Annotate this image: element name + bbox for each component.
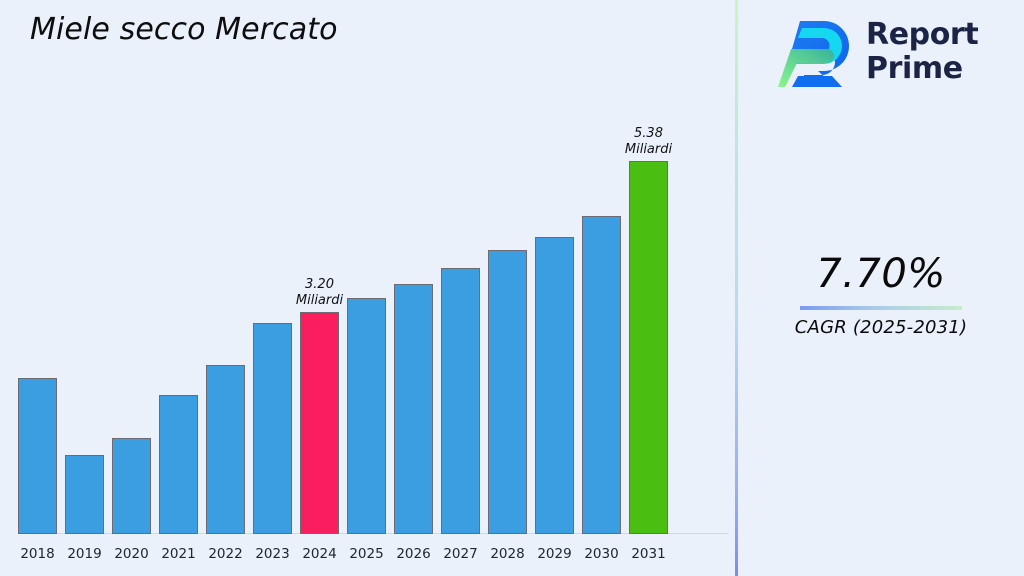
x-axis-tick-2026: 2026: [396, 546, 430, 562]
bar-value-unit-2024: Miliardi: [296, 293, 343, 309]
x-axis-tick-2019: 2019: [67, 546, 101, 562]
x-axis-tick-2025: 2025: [349, 546, 383, 562]
bar-group-2031: 5.38Miliardi2031: [625, 0, 672, 576]
bar-group-2019: 2019: [61, 0, 108, 576]
bar-2021[interactable]: [159, 395, 198, 534]
x-axis-tick-2023: 2023: [255, 546, 289, 562]
bar-2030[interactable]: [582, 216, 621, 534]
bar-group-2020: 2020: [108, 0, 155, 576]
bar-chart-plot: 2018201920202021202220233.20Miliardi2024…: [0, 0, 735, 576]
x-axis-tick-2030: 2030: [584, 546, 618, 562]
brand-name-line1: Report: [866, 18, 978, 52]
slide-root: Miele secco Mercato 20182019202020212022…: [0, 0, 1024, 576]
brand-wordmark: Report Prime: [866, 18, 978, 86]
bar-value-amount-2031: 5.38: [625, 126, 672, 142]
bar-2028[interactable]: [488, 250, 527, 534]
brand-name-line2: Prime: [866, 52, 978, 86]
bar-group-2027: 2027: [437, 0, 484, 576]
bar-value-label-2031: 5.38Miliardi: [625, 126, 672, 158]
bar-2023[interactable]: [253, 323, 292, 534]
x-axis-tick-2028: 2028: [490, 546, 524, 562]
cagr-value: 7.70%: [738, 248, 1024, 300]
x-axis-tick-2027: 2027: [443, 546, 477, 562]
report-prime-r-monogram-icon: [778, 16, 858, 92]
bar-group-2030: 2030: [578, 0, 625, 576]
bar-group-2028: 2028: [484, 0, 531, 576]
bar-group-2026: 2026: [390, 0, 437, 576]
bar-group-2025: 2025: [343, 0, 390, 576]
bar-group-2018: 2018: [14, 0, 61, 576]
bar-2025[interactable]: [347, 298, 386, 534]
cagr-divider-rule: [800, 306, 962, 310]
bar-value-amount-2024: 3.20: [296, 277, 343, 293]
bar-2027[interactable]: [441, 268, 480, 534]
x-axis-tick-2029: 2029: [537, 546, 571, 562]
bar-group-2023: 2023: [249, 0, 296, 576]
brand-logo: Report Prime: [778, 14, 1008, 94]
x-axis-tick-2022: 2022: [208, 546, 242, 562]
x-axis-tick-2031: 2031: [631, 546, 665, 562]
bar-value-label-2024: 3.20Miliardi: [296, 277, 343, 309]
chart-panel: Miele secco Mercato 20182019202020212022…: [0, 0, 735, 576]
x-axis-tick-2020: 2020: [114, 546, 148, 562]
bar-2022[interactable]: [206, 365, 245, 534]
bar-2029[interactable]: [535, 237, 574, 534]
side-panel: Report Prime 7.70% CAGR (2025-2031): [738, 0, 1024, 576]
cagr-label: CAGR (2025-2031): [738, 316, 1024, 340]
bar-group-2024: 3.20Miliardi2024: [296, 0, 343, 576]
bar-2026[interactable]: [394, 284, 433, 534]
bar-2031[interactable]: [629, 161, 668, 534]
bar-2024[interactable]: [300, 312, 339, 534]
x-axis-tick-2021: 2021: [161, 546, 195, 562]
bar-group-2029: 2029: [531, 0, 578, 576]
bar-2019[interactable]: [65, 455, 104, 534]
bar-2020[interactable]: [112, 438, 151, 534]
x-axis-tick-2024: 2024: [302, 546, 336, 562]
bar-group-2022: 2022: [202, 0, 249, 576]
bar-2018[interactable]: [18, 378, 57, 534]
cagr-block: 7.70% CAGR (2025-2031): [738, 248, 1024, 340]
x-axis-tick-2018: 2018: [20, 546, 54, 562]
bar-group-2021: 2021: [155, 0, 202, 576]
bar-value-unit-2031: Miliardi: [625, 142, 672, 158]
